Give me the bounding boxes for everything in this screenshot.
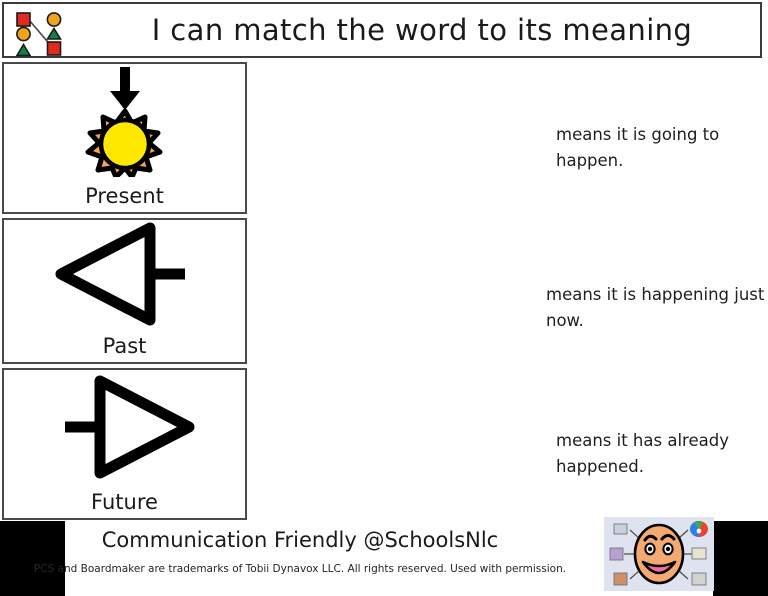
footer-black-bar-right bbox=[713, 521, 768, 596]
smiling-face-communication-logo bbox=[604, 517, 714, 591]
meaning-text-going-to-happen: means it is going to happen. bbox=[556, 122, 756, 174]
symbol-card-label: Present bbox=[4, 184, 245, 208]
footer-credit: Communication Friendly @SchoolsNlc bbox=[0, 528, 600, 552]
left-arrow-outline-symbol bbox=[4, 220, 245, 328]
meaning-text-happening-just-now: means it is happening just now. bbox=[546, 282, 768, 334]
symbol-card-past[interactable]: Past bbox=[2, 218, 247, 364]
matching-shapes-icon bbox=[12, 10, 70, 58]
symbol-card-present[interactable]: Present bbox=[2, 62, 247, 214]
symbol-card-label: Past bbox=[4, 334, 245, 358]
symbol-card-future[interactable]: Future bbox=[2, 368, 247, 520]
sun-with-down-arrow-symbol bbox=[4, 64, 245, 178]
footer-trademark: PCS and Boardmaker are trademarks of Tob… bbox=[0, 563, 600, 575]
symbol-card-label: Future bbox=[4, 490, 245, 514]
right-arrow-outline-symbol bbox=[4, 370, 245, 484]
page-title: I can match the word to its meaning bbox=[94, 4, 750, 56]
title-bar: I can match the word to its meaning bbox=[2, 2, 762, 58]
meaning-text-already-happened: means it has already happened. bbox=[556, 428, 761, 480]
